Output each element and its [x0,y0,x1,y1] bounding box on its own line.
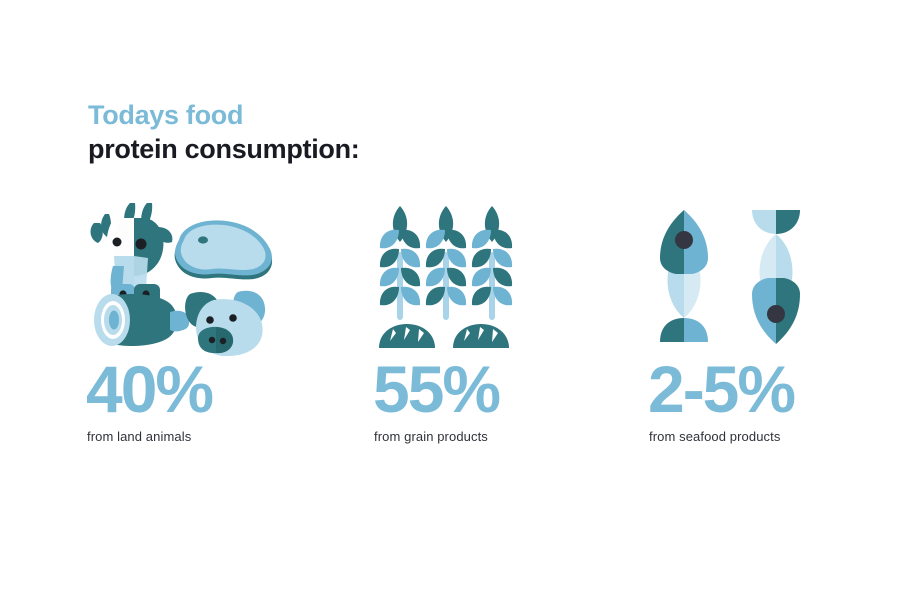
page-title: Todays food protein consumption: [88,98,359,166]
stat-caption-seafood-products: from seafood products [649,429,780,444]
wheat-stalk-icon [380,206,420,320]
stat-percent-seafood-products: 2-5% [648,356,794,422]
bread-loaf-icon [379,324,435,348]
land-animals-icons [86,196,286,356]
title-line-1: Todays food [88,98,359,132]
infographic-page: Todays food protein consumption: [0,0,900,600]
stat-caption-land-animals: from land animals [87,429,191,444]
stat-caption-grain-products: from grain products [374,429,488,444]
wheat-stalk-icon [472,206,512,320]
cow-head-icon [91,203,173,304]
ham-icon [94,294,189,346]
seafood-products-icons [648,196,813,356]
steak-icon [175,220,272,279]
stat-column-grain-products: 55% from grain products [373,196,633,466]
title-line-2: protein consumption: [88,132,359,166]
stats-columns: 40% from land animals [0,196,900,466]
fish-up-icon [660,210,708,342]
stat-column-land-animals: 40% from land animals [86,196,346,466]
stat-column-seafood-products: 2-5% from seafood products [648,196,900,466]
grain-products-icons [373,196,523,356]
pig-head-icon [185,291,265,356]
wheat-stalk-icon [426,206,466,320]
stat-percent-grain-products: 55% [373,356,499,422]
stat-percent-land-animals: 40% [86,356,212,422]
fish-down-icon [752,210,800,344]
bread-loaf-icon [453,324,509,348]
